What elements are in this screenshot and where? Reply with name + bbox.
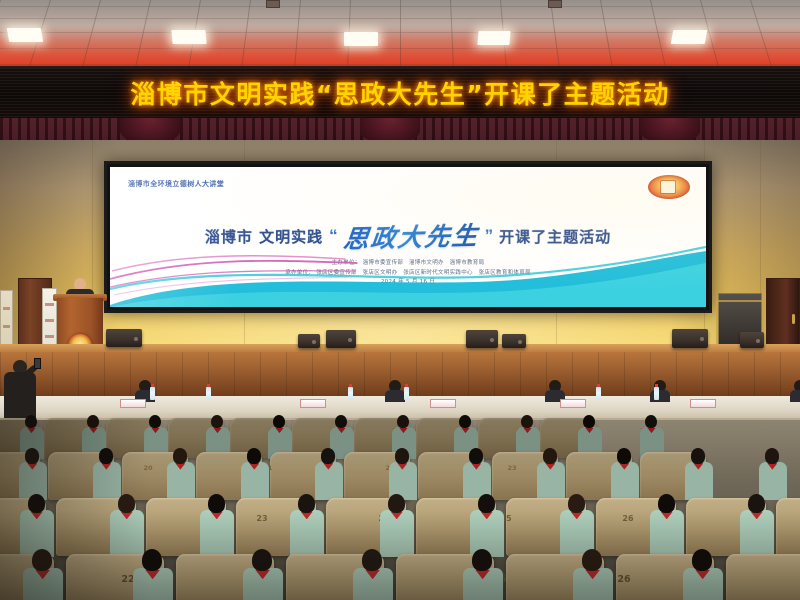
stage-led-screen: 淄博市全环境立德树人大讲堂 淄博市 文明实践 “ 思政大先生 ” 开课了主题活动… xyxy=(104,161,712,313)
ceiling-grid-line xyxy=(650,0,667,72)
right-stage-door[interactable] xyxy=(766,278,800,352)
audience-head xyxy=(321,448,335,464)
table-name-card xyxy=(690,399,716,408)
audience-seating-area: 1617181920202122232422232425262223242526 xyxy=(0,420,800,600)
audience-head xyxy=(395,448,409,464)
audience-head xyxy=(298,494,315,513)
ceiling-grid-line xyxy=(0,18,800,19)
audience-head xyxy=(252,549,272,571)
poster-stripe xyxy=(45,319,54,322)
audience-head xyxy=(208,494,225,513)
title-close-quote: ” xyxy=(485,226,494,246)
audience-head xyxy=(658,494,675,513)
head-table-guest xyxy=(385,380,405,400)
table-name-card xyxy=(120,399,146,408)
water-bottle xyxy=(404,387,409,400)
seat-number: 23 xyxy=(256,514,267,523)
title-suffix: 开课了主题活动 xyxy=(499,226,611,247)
ceiling-vent xyxy=(548,0,562,8)
audience-head xyxy=(247,448,261,464)
head-table-guest xyxy=(650,380,670,400)
wall-standee-poster xyxy=(0,290,13,350)
videographer-body xyxy=(4,372,36,418)
title-prefix: 淄博市 文明实践 xyxy=(205,226,323,247)
guest-body xyxy=(650,390,670,402)
ceiling-light-panel xyxy=(171,30,206,44)
ceiling-light-panel xyxy=(7,28,43,42)
audience-head xyxy=(118,494,135,513)
poster-stripe xyxy=(3,325,11,328)
event-emblem-logo xyxy=(648,175,690,199)
poster-stripe xyxy=(3,307,11,310)
ceiling-grid-line xyxy=(294,0,301,72)
auditorium-seat[interactable] xyxy=(776,498,800,556)
water-bottle xyxy=(654,387,659,400)
stage-monitor-speaker xyxy=(106,329,142,347)
audience-head xyxy=(472,549,492,571)
audience-head xyxy=(691,448,705,464)
ceiling-grid-line xyxy=(750,0,774,72)
table-name-card xyxy=(560,399,586,408)
audience-head xyxy=(692,549,712,571)
screen-surface: 淄博市全环境立德树人大讲堂 淄博市 文明实践 “ 思政大先生 ” 开课了主题活动… xyxy=(110,167,706,307)
ceiling-grid-line xyxy=(241,0,251,72)
audience-head xyxy=(583,415,595,428)
audience-head xyxy=(99,448,113,464)
audience-head xyxy=(748,494,765,513)
audience-head xyxy=(362,549,382,571)
led-banner: 淄博市文明实践“思政大先生”开课了主题活动 xyxy=(0,66,800,120)
audience-head xyxy=(28,494,45,513)
water-bottle xyxy=(348,387,353,400)
audience-head xyxy=(335,415,347,428)
audience-videographer xyxy=(4,360,40,418)
ceiling-grid-line xyxy=(81,0,101,72)
audience-head xyxy=(149,415,161,428)
audience-head xyxy=(543,448,557,464)
poster-stripe xyxy=(45,303,54,306)
title-open-quote: “ xyxy=(329,226,338,246)
audience-head xyxy=(173,448,187,464)
stage-monitor-speaker xyxy=(502,334,526,348)
audience-head xyxy=(765,448,779,464)
audience-head xyxy=(142,549,162,571)
seat-number: 26 xyxy=(617,574,630,585)
ceiling xyxy=(0,0,800,72)
audience-head xyxy=(617,448,631,464)
audience-head xyxy=(273,415,285,428)
auditorium-seat[interactable] xyxy=(726,554,800,600)
water-bottle xyxy=(596,387,601,400)
head-table-guest xyxy=(790,380,800,400)
audience-head xyxy=(397,415,409,428)
screen-header-text: 淄博市全环境立德树人大讲堂 xyxy=(128,179,224,189)
audience-head xyxy=(582,549,602,571)
guest-body xyxy=(790,390,800,402)
seat-number: 26 xyxy=(622,514,633,523)
audience-head xyxy=(478,494,495,513)
table-name-card xyxy=(430,399,456,408)
audience-head xyxy=(388,494,405,513)
ceiling-grid-line xyxy=(134,0,151,72)
led-banner-text: 淄博市文明实践“思政大先生”开课了主题活动 xyxy=(130,75,669,111)
head-table-guest xyxy=(545,380,565,400)
ceiling-light-panel xyxy=(344,32,378,46)
stage-monitor-speaker xyxy=(298,334,320,348)
seat-number: 20 xyxy=(143,464,152,472)
water-bottle xyxy=(150,387,155,400)
audience-head xyxy=(645,415,657,428)
audience-head xyxy=(211,415,223,428)
stage-monitor-speaker xyxy=(672,329,708,348)
stage-monitor-speaker xyxy=(326,330,356,348)
audience-head xyxy=(87,415,99,428)
table-name-card xyxy=(300,399,326,408)
ceiling-grid-line xyxy=(400,0,401,72)
ceiling-grid-line xyxy=(550,0,560,72)
auditorium-scene: 淄博市文明实践“思政大先生”开课了主题活动 淄博市全环境立德树人大讲堂 淄博市 xyxy=(0,0,800,600)
audience-head xyxy=(25,415,37,428)
audience-head xyxy=(459,415,471,428)
ceiling-grid-line xyxy=(450,0,454,72)
audience-head xyxy=(32,549,52,571)
audience-head xyxy=(521,415,533,428)
stage-monitor-speaker xyxy=(740,332,764,348)
ceiling-grid-line xyxy=(0,0,1,72)
ceiling-vent xyxy=(266,0,280,8)
poster-stripe xyxy=(45,335,54,338)
seat-number: 23 xyxy=(507,464,516,472)
water-bottle xyxy=(206,387,211,400)
audience-head xyxy=(469,448,483,464)
ceiling-light-panel xyxy=(671,30,707,44)
ceiling-light-panel xyxy=(477,31,510,45)
audience-head xyxy=(568,494,585,513)
screen-wave-graphic xyxy=(110,245,706,307)
ceiling-grid-line xyxy=(0,6,800,7)
audience-head xyxy=(25,448,39,464)
ceiling-grid-line xyxy=(0,64,800,65)
ceiling-grid-line xyxy=(0,48,800,49)
ceiling-grid-line xyxy=(600,0,614,72)
stage-monitor-speaker xyxy=(466,330,498,348)
guest-body xyxy=(385,390,405,402)
phone-camera-icon xyxy=(34,358,41,369)
